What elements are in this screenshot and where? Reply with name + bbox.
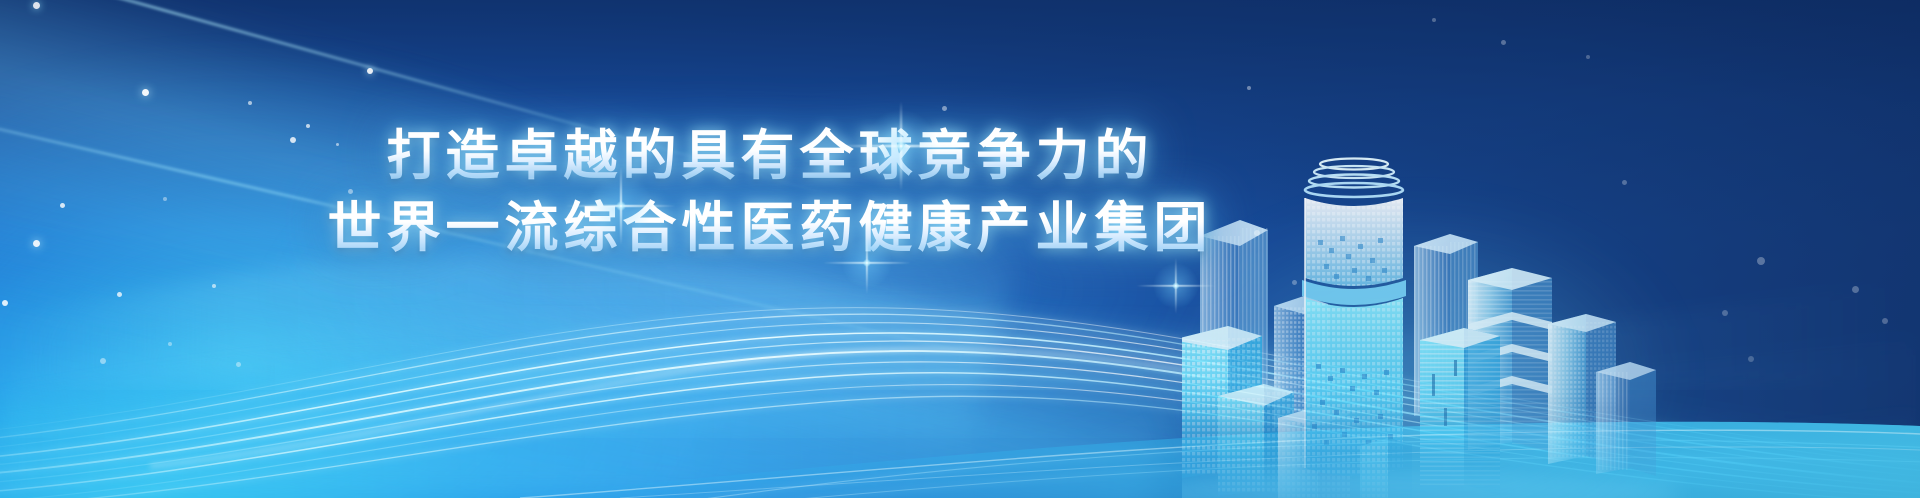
city-glow bbox=[1160, 208, 1680, 498]
hero-banner: 打造卓越的具有全球竞争力的 世界一流综合性医药健康产业集团 bbox=[0, 0, 1920, 498]
